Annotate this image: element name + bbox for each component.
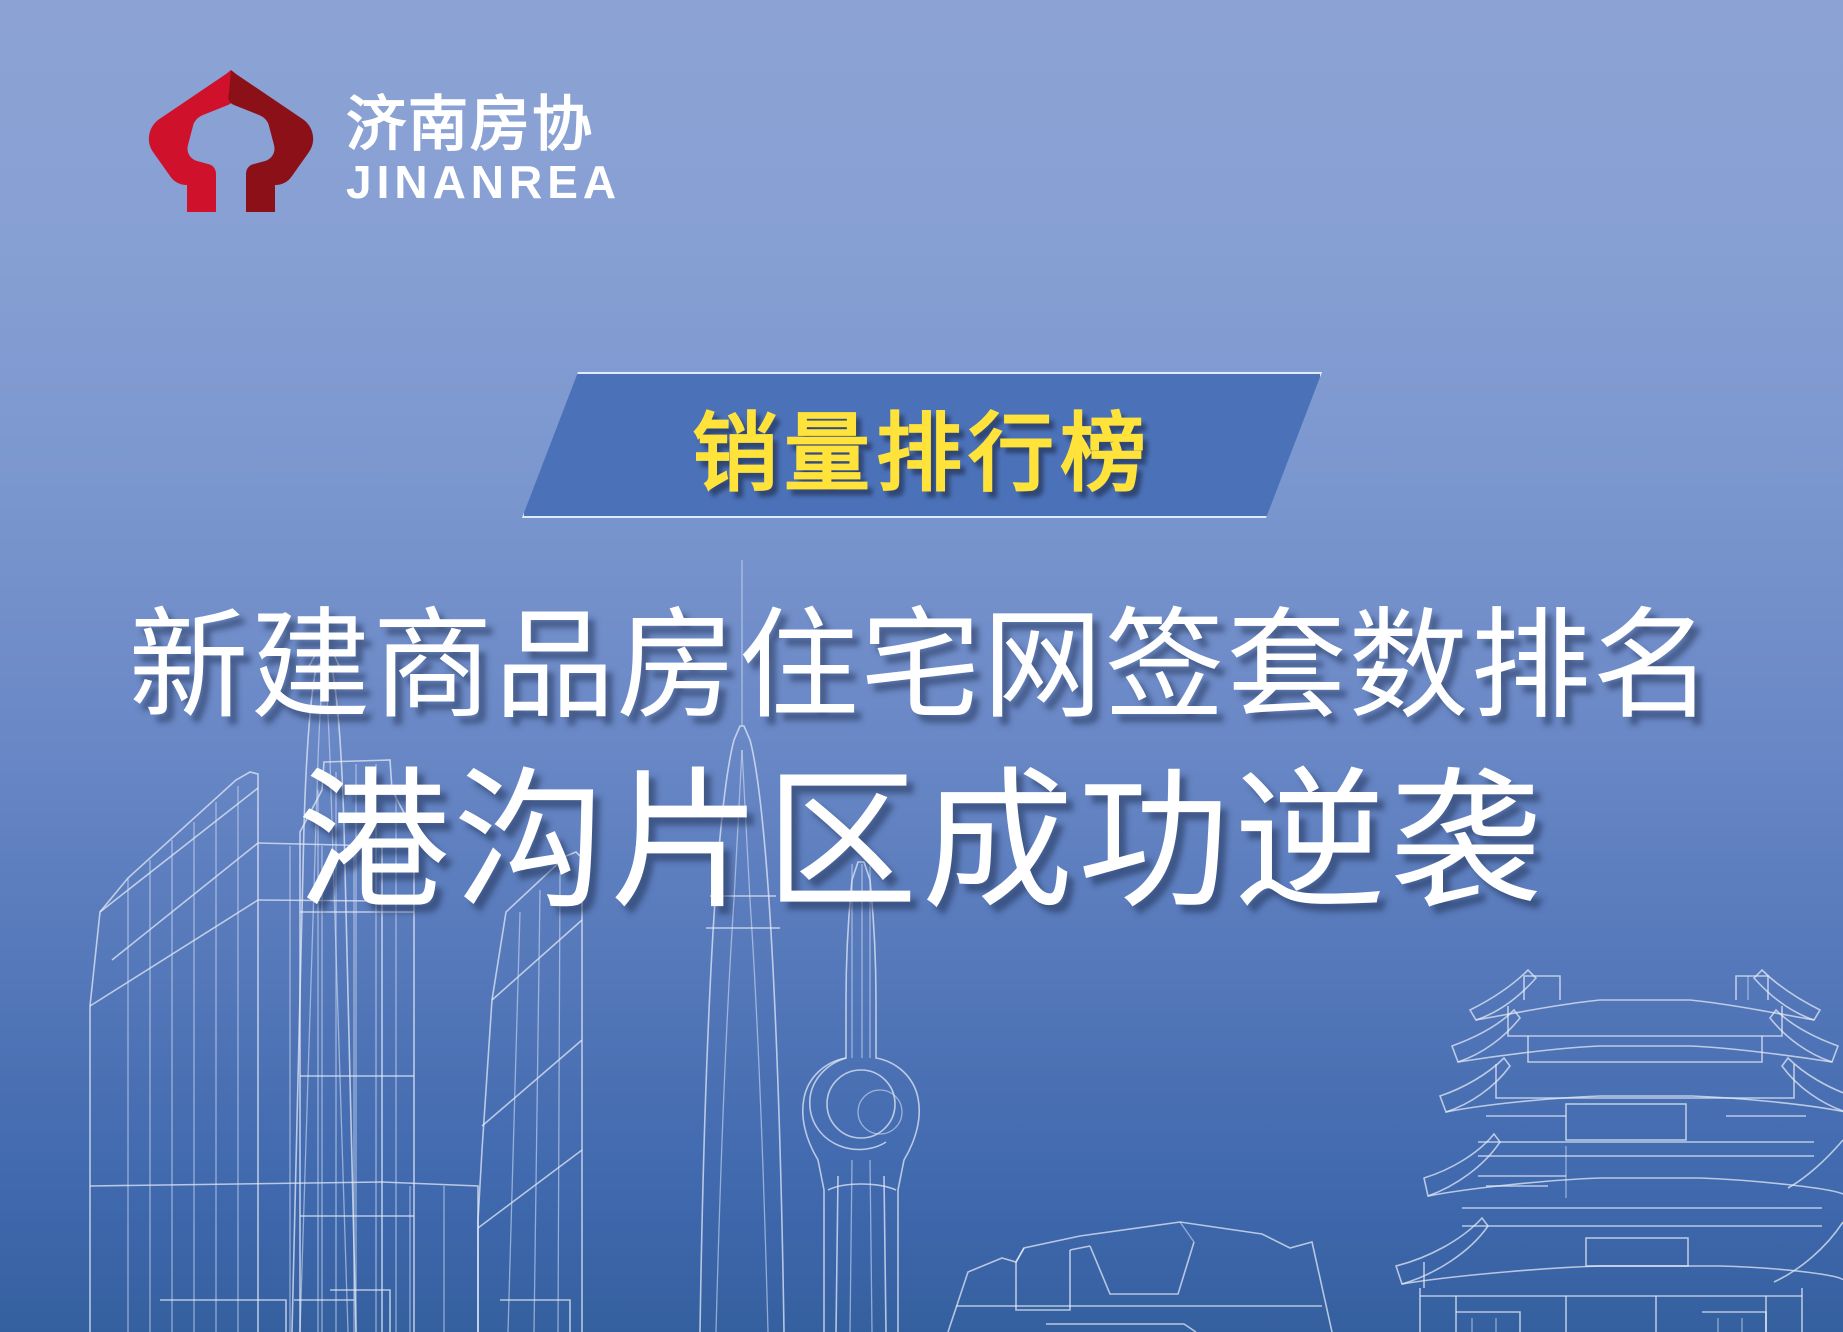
- headline-line-1: 新建商品房住宅网签套数排名: [0, 596, 1843, 738]
- spire-skyscraper-shape: [700, 560, 784, 1332]
- ribbed-office-tower-shape: [300, 760, 414, 1332]
- twisting-supertall-tower-shape: [292, 650, 356, 1332]
- brand-name-english: JINANREA: [346, 159, 621, 205]
- house-pentagon-logo-icon: [140, 62, 322, 212]
- tv-tower-with-spheres-shape: [803, 862, 919, 1332]
- headline-block: 新建商品房住宅网签套数排名 港沟片区成功逆袭: [0, 596, 1843, 931]
- headline-line-2: 港沟片区成功逆袭: [0, 752, 1843, 931]
- brand-wordmark: 济南房协 JINANREA: [346, 69, 621, 205]
- stepped-office-tower-shape: [90, 772, 478, 1332]
- brand-name-chinese: 济南房协: [346, 95, 621, 155]
- banner-label: 销量排行榜: [522, 372, 1322, 518]
- modern-angular-museum-shape: [948, 1222, 1332, 1332]
- ribbed-office-tower-right-shape: [478, 852, 582, 1332]
- poster-canvas: 济南房协 JINANREA 销量排行榜 新建商品房住宅网签套数排名 港沟片区成功…: [0, 0, 1843, 1332]
- sales-ranking-banner: 销量排行榜: [522, 372, 1322, 518]
- traditional-tiered-pagoda-shape: [1396, 970, 1843, 1332]
- brand-logo: 济南房协 JINANREA: [140, 62, 621, 212]
